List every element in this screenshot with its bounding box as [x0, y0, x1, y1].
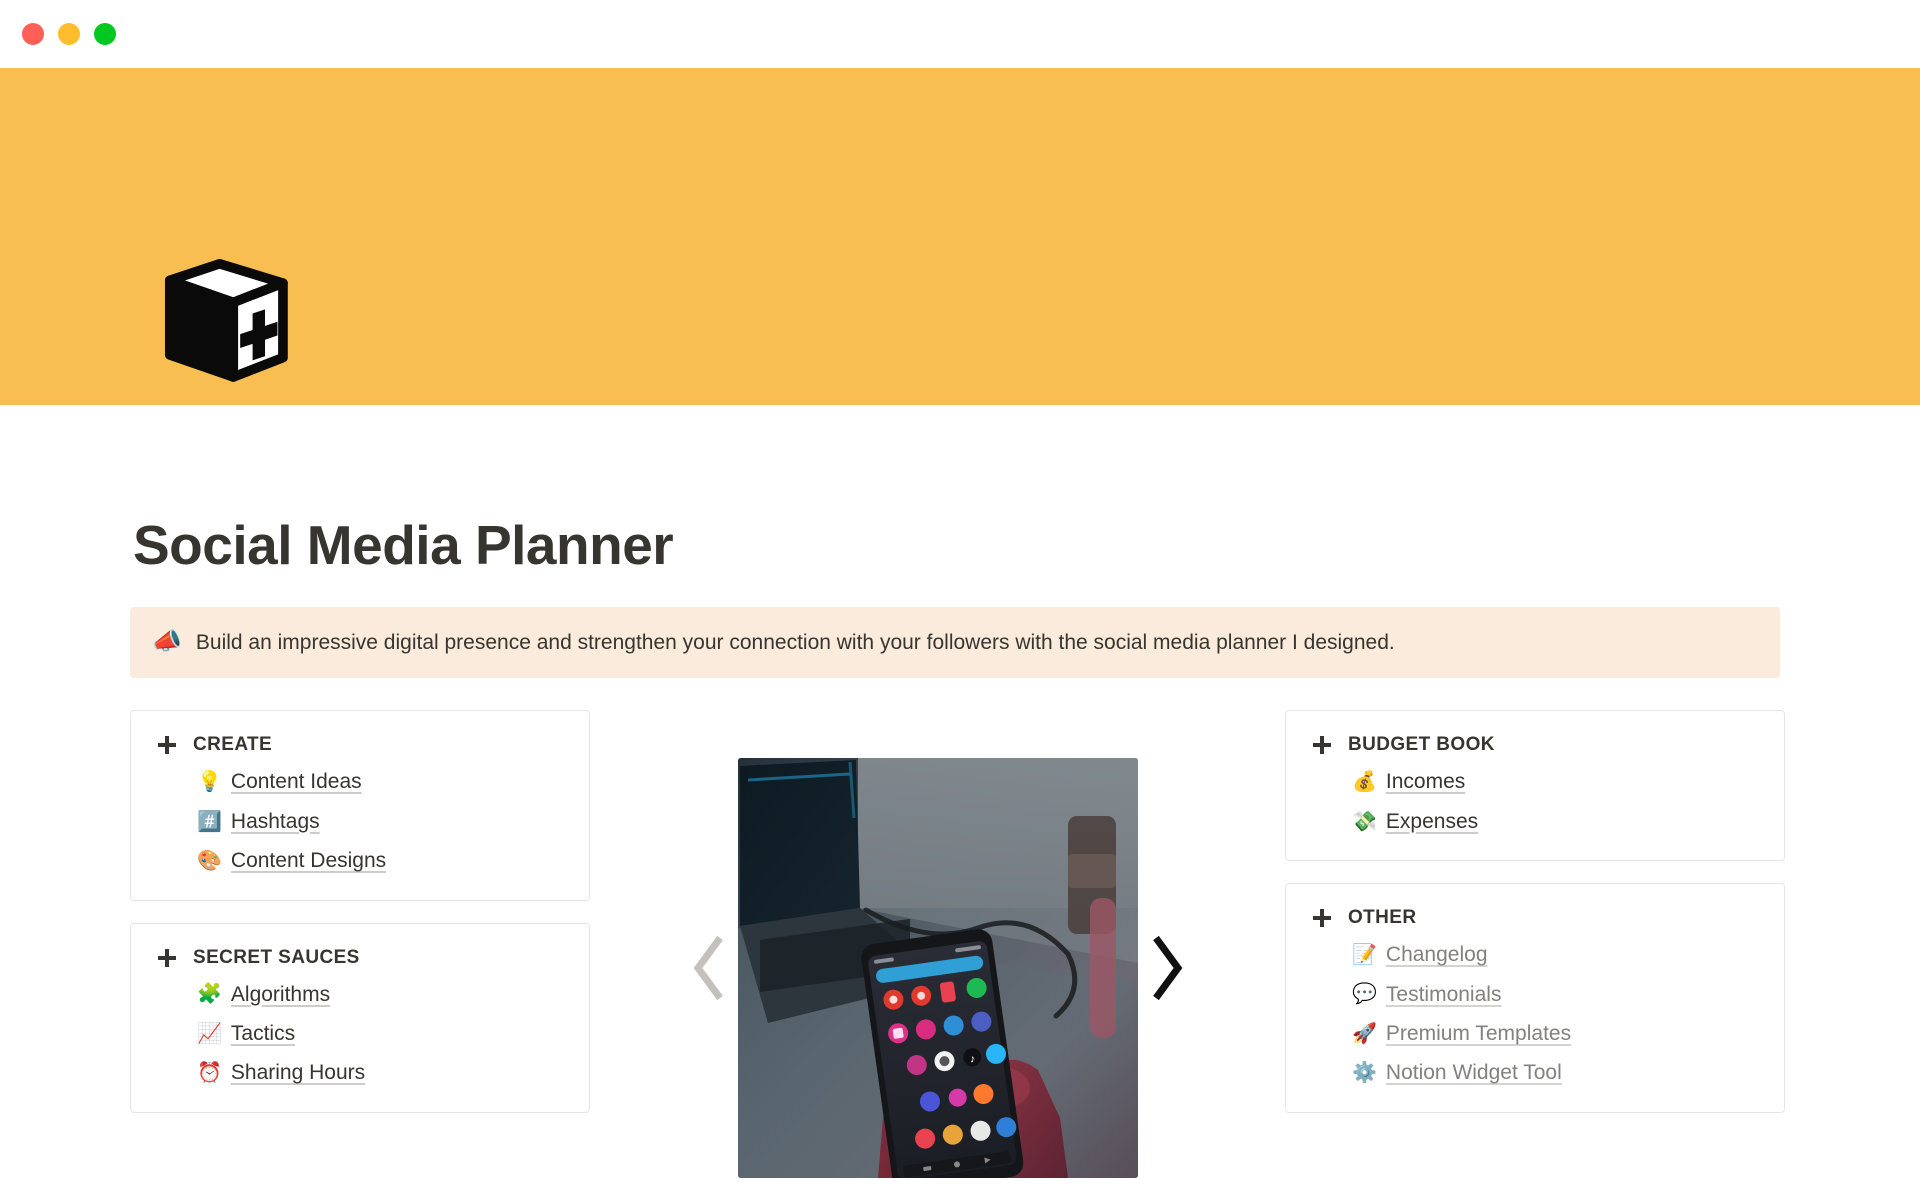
link-content-designs[interactable]: Content Designs [231, 846, 386, 875]
link-incomes[interactable]: Incomes [1386, 767, 1465, 796]
gear-emoji: ⚙️ [1352, 1059, 1377, 1087]
carousel-image[interactable]: ♪ [738, 758, 1138, 1178]
carousel-next-button[interactable] [1138, 923, 1194, 1013]
page-title: Social Media Planner [133, 513, 1920, 577]
link-notion-widget-tool[interactable]: Notion Widget Tool [1386, 1058, 1562, 1087]
carousel-prev-button[interactable] [682, 923, 738, 1013]
rocket-emoji: 🚀 [1352, 1020, 1377, 1048]
card-budget-book-header[interactable]: BUDGET BOOK [1310, 733, 1760, 757]
card-other-links: 📝 Changelog 💬 Testimonials 🚀 Premium Tem… [1310, 940, 1760, 1088]
money-bag-emoji: 💰 [1352, 768, 1377, 796]
image-carousel: ♪ [590, 758, 1285, 1178]
chart-increasing-emoji: 📈 [197, 1020, 222, 1048]
link-expenses[interactable]: Expenses [1386, 807, 1478, 836]
list-item[interactable]: 🚀 Premium Templates [1352, 1019, 1760, 1048]
callout-text: Build an impressive digital presence and… [196, 627, 1395, 658]
list-item[interactable]: 💸 Expenses [1352, 807, 1760, 836]
list-item[interactable]: 💡 Content Ideas [197, 767, 565, 796]
card-budget-book-links: 💰 Incomes 💸 Expenses [1310, 767, 1760, 836]
link-content-ideas[interactable]: Content Ideas [231, 767, 362, 796]
list-item[interactable]: 🧩 Algorithms [197, 980, 565, 1009]
money-with-wings-emoji: 💸 [1352, 808, 1377, 836]
card-secret-sauces: SECRET SAUCES 🧩 Algorithms 📈 Tactics ⏰ S… [130, 923, 590, 1113]
box-plus-icon[interactable] [156, 250, 294, 388]
card-secret-sauces-title: SECRET SAUCES [193, 947, 360, 969]
list-item[interactable]: 📝 Changelog [1352, 940, 1760, 969]
maximize-button[interactable] [94, 23, 116, 45]
card-create: CREATE 💡 Content Ideas #️⃣ Hashtags 🎨 Co… [130, 710, 590, 900]
list-item[interactable]: ⚙️ Notion Widget Tool [1352, 1058, 1760, 1087]
list-item[interactable]: 💬 Testimonials [1352, 980, 1760, 1009]
card-secret-sauces-header[interactable]: SECRET SAUCES [155, 946, 565, 970]
megaphone-emoji: 📣 [152, 627, 182, 657]
link-changelog[interactable]: Changelog [1386, 940, 1488, 969]
card-other-header[interactable]: OTHER [1310, 906, 1760, 930]
link-testimonials[interactable]: Testimonials [1386, 980, 1502, 1009]
plus-icon [1310, 733, 1334, 757]
list-item[interactable]: #️⃣ Hashtags [197, 807, 565, 836]
callout-banner: 📣 Build an impressive digital presence a… [130, 607, 1780, 678]
link-hashtags[interactable]: Hashtags [231, 807, 320, 836]
palette-emoji: 🎨 [197, 847, 222, 875]
plus-icon [1310, 906, 1334, 930]
hash-emoji: #️⃣ [197, 808, 222, 836]
left-column: CREATE 💡 Content Ideas #️⃣ Hashtags 🎨 Co… [130, 710, 590, 1112]
puzzle-piece-emoji: 🧩 [197, 980, 222, 1008]
link-tactics[interactable]: Tactics [231, 1019, 295, 1048]
alarm-clock-emoji: ⏰ [197, 1059, 222, 1087]
link-premium-templates[interactable]: Premium Templates [1386, 1019, 1571, 1048]
card-create-links: 💡 Content Ideas #️⃣ Hashtags 🎨 Content D… [155, 767, 565, 875]
card-budget-book: BUDGET BOOK 💰 Incomes 💸 Expenses [1285, 710, 1785, 861]
card-create-header[interactable]: CREATE [155, 733, 565, 757]
list-item[interactable]: ⏰ Sharing Hours [197, 1058, 565, 1087]
plus-icon [155, 946, 179, 970]
link-algorithms[interactable]: Algorithms [231, 980, 330, 1009]
card-create-title: CREATE [193, 734, 272, 756]
lightbulb-emoji: 💡 [197, 768, 222, 796]
list-item[interactable]: 🎨 Content Designs [197, 846, 565, 875]
middle-column: ♪ [590, 710, 1285, 1178]
list-item[interactable]: 💰 Incomes [1352, 767, 1760, 796]
card-other-title: OTHER [1348, 907, 1417, 929]
plus-icon [155, 733, 179, 757]
page-content: Social Media Planner 📣 Build an impressi… [0, 513, 1920, 1178]
right-column: BUDGET BOOK 💰 Incomes 💸 Expenses [1285, 710, 1785, 1112]
link-sharing-hours[interactable]: Sharing Hours [231, 1058, 365, 1087]
card-secret-sauces-links: 🧩 Algorithms 📈 Tactics ⏰ Sharing Hours [155, 980, 565, 1088]
minimize-button[interactable] [58, 23, 80, 45]
close-button[interactable] [22, 23, 44, 45]
window-controls [22, 23, 116, 45]
columns-layout: CREATE 💡 Content Ideas #️⃣ Hashtags 🎨 Co… [130, 710, 1785, 1178]
card-other: OTHER 📝 Changelog 💬 Testimonials 🚀 Premi… [1285, 883, 1785, 1113]
speech-balloon-emoji: 💬 [1352, 980, 1377, 1008]
memo-emoji: 📝 [1352, 941, 1377, 969]
card-budget-book-title: BUDGET BOOK [1348, 734, 1495, 756]
window-titlebar [0, 0, 1920, 68]
list-item[interactable]: 📈 Tactics [197, 1019, 565, 1048]
